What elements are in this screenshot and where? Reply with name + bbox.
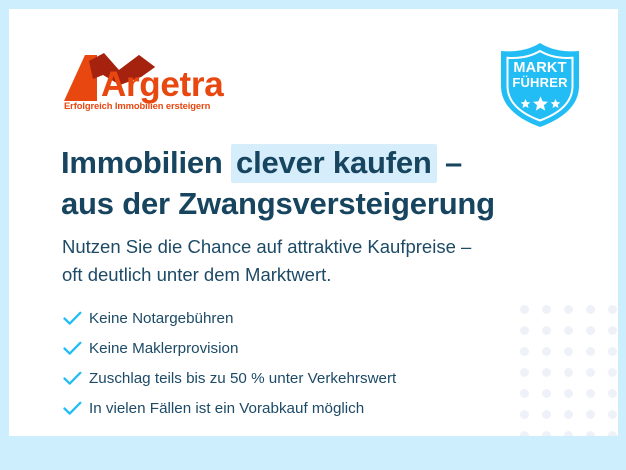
decorative-dot [608, 305, 617, 314]
decorative-dot [564, 347, 573, 356]
decorative-dot [542, 368, 551, 377]
headline-line-2: aus der Zwangsversteigerung [61, 183, 495, 224]
subheadline-line-1: Nutzen Sie die Chance auf attraktive Kau… [62, 233, 471, 261]
dot-grid-decoration [520, 305, 618, 436]
decorative-dot [520, 431, 529, 436]
decorative-dot [608, 431, 617, 436]
logo-wordmark: Argetra [101, 67, 223, 102]
decorative-dot [608, 389, 617, 398]
list-item: In vielen Fällen ist ein Vorabkauf mögli… [63, 397, 396, 420]
decorative-dot [608, 347, 617, 356]
headline-text-after: – [437, 145, 462, 180]
decorative-dot [564, 368, 573, 377]
subheadline-line-2: oft deutlich unter dem Marktwert. [62, 261, 471, 289]
decorative-dot [564, 305, 573, 314]
list-item: Keine Notargebühren [63, 307, 396, 330]
headline-text-before: Immobilien [61, 145, 231, 180]
headline-line-1: Immobilien clever kaufen – [61, 142, 495, 183]
decorative-dot [542, 347, 551, 356]
decorative-dot [564, 410, 573, 419]
logo-tagline: Erfolgreich Immobilien ersteigern [64, 100, 210, 111]
list-item: Keine Maklerprovision [63, 337, 396, 360]
list-item: Zuschlag teils bis zu 50 % unter Verkehr… [63, 367, 396, 390]
decorative-dot [520, 305, 529, 314]
decorative-dot [564, 326, 573, 335]
decorative-dot [564, 389, 573, 398]
subheadline: Nutzen Sie die Chance auf attraktive Kau… [62, 233, 471, 289]
decorative-dot [542, 431, 551, 436]
decorative-dot [520, 368, 529, 377]
decorative-dot [520, 347, 529, 356]
decorative-dot [564, 431, 573, 436]
promo-banner: Argetra Erfolgreich Immobilien ersteiger… [0, 0, 626, 470]
check-icon [63, 401, 89, 416]
headline-highlight: clever kaufen [231, 144, 437, 183]
market-leader-badge: MARKT FÜHRER [496, 42, 584, 128]
decorative-dot [542, 389, 551, 398]
headline: Immobilien clever kaufen – aus der Zwang… [61, 142, 495, 224]
check-icon [63, 311, 89, 326]
benefits-list: Keine Notargebühren Keine Maklerprovisio… [63, 307, 396, 420]
list-item-label: Keine Notargebühren [89, 310, 233, 327]
check-icon [63, 341, 89, 356]
decorative-dot [586, 389, 595, 398]
decorative-dot [586, 368, 595, 377]
decorative-dot [608, 368, 617, 377]
decorative-dot [586, 305, 595, 314]
decorative-dot [586, 326, 595, 335]
decorative-dot [542, 410, 551, 419]
shield-icon [496, 42, 584, 128]
argetra-logo[interactable]: Argetra Erfolgreich Immobilien ersteiger… [63, 51, 263, 117]
decorative-dot [586, 410, 595, 419]
decorative-dot [520, 389, 529, 398]
list-item-label: In vielen Fällen ist ein Vorabkauf mögli… [89, 400, 364, 417]
decorative-dot [586, 431, 595, 436]
decorative-dot [542, 326, 551, 335]
list-item-label: Zuschlag teils bis zu 50 % unter Verkehr… [89, 370, 396, 387]
decorative-dot [520, 410, 529, 419]
decorative-dot [542, 305, 551, 314]
decorative-dot [608, 326, 617, 335]
check-icon [63, 371, 89, 386]
list-item-label: Keine Maklerprovision [89, 340, 238, 357]
decorative-dot [608, 410, 617, 419]
banner-card: Argetra Erfolgreich Immobilien ersteiger… [9, 9, 618, 436]
decorative-dot [586, 347, 595, 356]
decorative-dot [520, 326, 529, 335]
